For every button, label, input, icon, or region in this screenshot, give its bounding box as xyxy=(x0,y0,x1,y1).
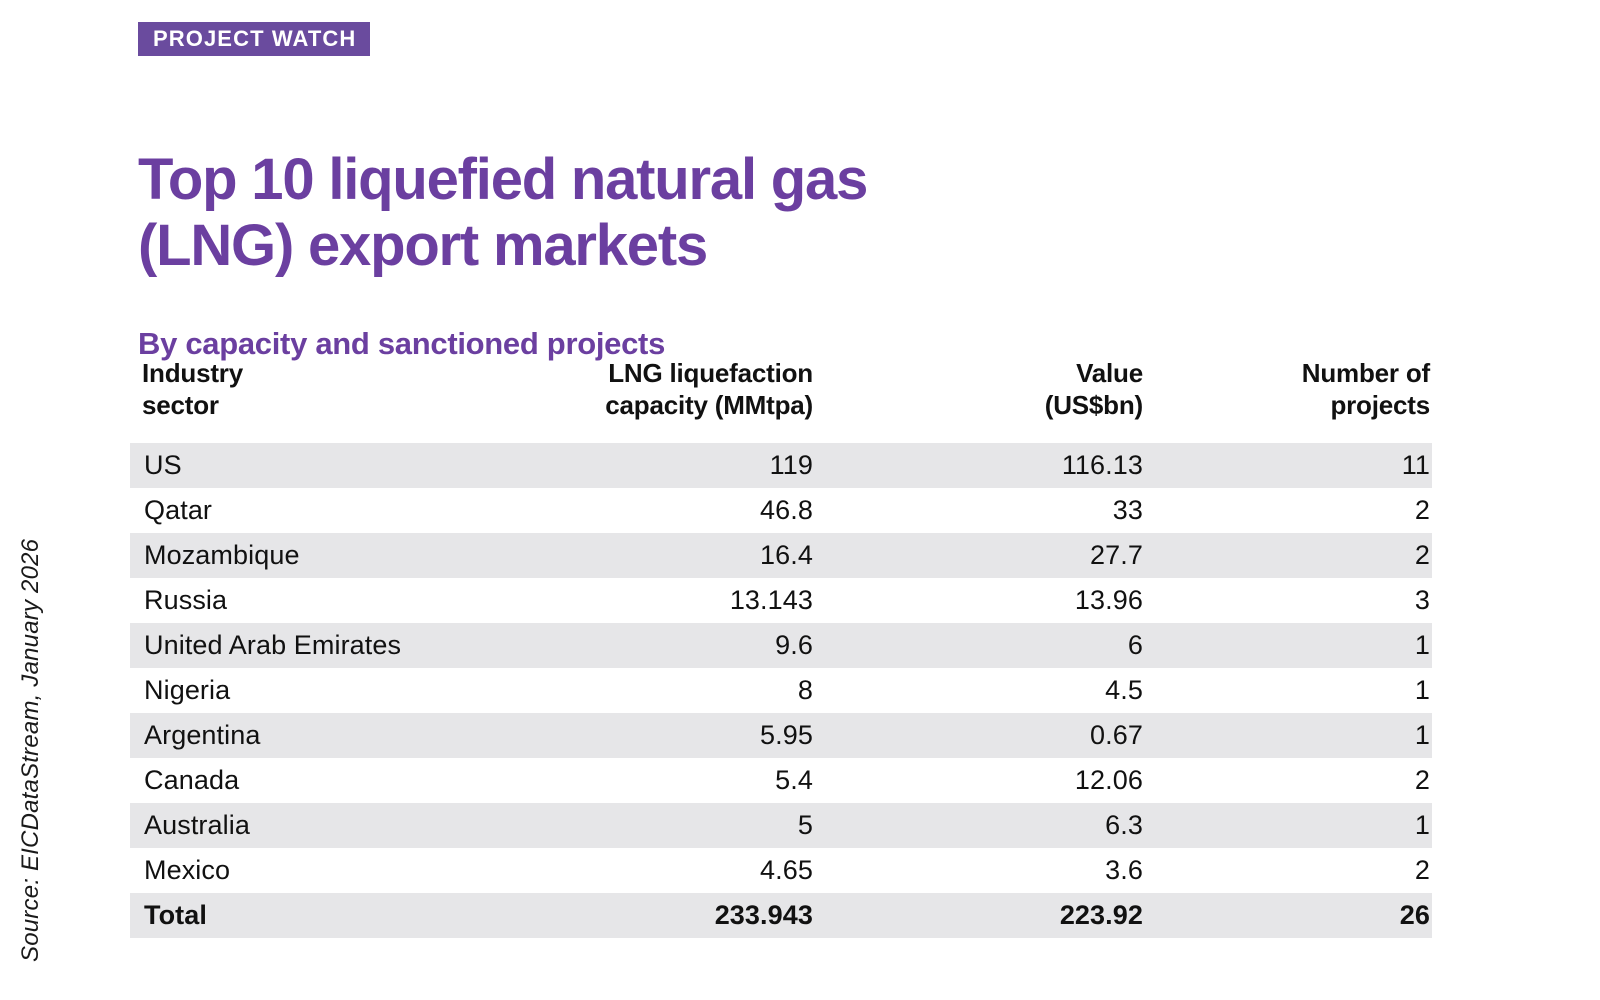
cell-capacity: 5 xyxy=(600,803,815,848)
cell-projects: 2 xyxy=(1145,758,1432,803)
table-row: Canada5.412.062 xyxy=(130,758,1432,803)
cell-capacity: 233.943 xyxy=(600,893,815,938)
cell-capacity: 5.4 xyxy=(600,758,815,803)
table-row: Nigeria84.51 xyxy=(130,668,1432,713)
page-title-line-1: Top 10 liquefied natural gas xyxy=(138,147,1138,213)
table-row: Australia56.31 xyxy=(130,803,1432,848)
page-subtitle: By capacity and sanctioned projects xyxy=(138,326,665,362)
cell-capacity: 4.65 xyxy=(600,848,815,893)
cell-capacity: 9.6 xyxy=(600,623,815,668)
column-header-value-line-2: (US$bn) xyxy=(815,390,1143,422)
cell-industry-sector: US xyxy=(130,443,600,488)
cell-capacity: 16.4 xyxy=(600,533,815,578)
cell-industry-sector: Argentina xyxy=(130,713,600,758)
cell-capacity: 13.143 xyxy=(600,578,815,623)
cell-industry-sector: Mozambique xyxy=(130,533,600,578)
cell-industry-sector: Russia xyxy=(130,578,600,623)
cell-projects: 26 xyxy=(1145,893,1432,938)
cell-projects: 1 xyxy=(1145,713,1432,758)
cell-projects: 1 xyxy=(1145,623,1432,668)
cell-industry-sector: Qatar xyxy=(130,488,600,533)
cell-value: 3.6 xyxy=(815,848,1145,893)
cell-value: 0.67 xyxy=(815,713,1145,758)
column-header-industry-sector: Industry sector xyxy=(130,358,600,443)
cell-capacity: 5.95 xyxy=(600,713,815,758)
column-header-capacity-line-2: capacity (MMtpa) xyxy=(600,390,813,422)
cell-projects: 2 xyxy=(1145,488,1432,533)
cell-value: 223.92 xyxy=(815,893,1145,938)
cell-value: 6.3 xyxy=(815,803,1145,848)
cell-capacity: 46.8 xyxy=(600,488,815,533)
column-header-projects: Number of projects xyxy=(1145,358,1432,443)
cell-projects: 1 xyxy=(1145,668,1432,713)
column-header-industry-sector-line-2: sector xyxy=(142,390,600,422)
table-body: US119116.1311Qatar46.8332Mozambique16.42… xyxy=(130,443,1432,938)
lng-export-markets-table: Industry sector LNG liquefaction capacit… xyxy=(130,358,1432,938)
cell-industry-sector: Australia xyxy=(130,803,600,848)
column-header-industry-sector-line-1: Industry xyxy=(142,358,600,390)
page-title: Top 10 liquefied natural gas (LNG) expor… xyxy=(138,147,1138,279)
column-header-capacity: LNG liquefaction capacity (MMtpa) xyxy=(600,358,815,443)
project-watch-badge-label: PROJECT WATCH xyxy=(153,28,356,50)
table-row: Argentina5.950.671 xyxy=(130,713,1432,758)
table-row: Mozambique16.427.72 xyxy=(130,533,1432,578)
cell-projects: 3 xyxy=(1145,578,1432,623)
column-header-projects-line-1: Number of xyxy=(1145,358,1430,390)
table-row-total: Total233.943223.9226 xyxy=(130,893,1432,938)
table-header: Industry sector LNG liquefaction capacit… xyxy=(130,358,1432,443)
table-row: United Arab Emirates9.661 xyxy=(130,623,1432,668)
cell-industry-sector: Mexico xyxy=(130,848,600,893)
cell-industry-sector: Canada xyxy=(130,758,600,803)
column-header-capacity-line-1: LNG liquefaction xyxy=(600,358,813,390)
cell-value: 13.96 xyxy=(815,578,1145,623)
cell-value: 6 xyxy=(815,623,1145,668)
cell-capacity: 119 xyxy=(600,443,815,488)
cell-industry-sector: Nigeria xyxy=(130,668,600,713)
cell-projects: 11 xyxy=(1145,443,1432,488)
source-note: Source: EICDataStream, January 2026 xyxy=(0,0,62,1000)
cell-industry-sector: Total xyxy=(130,893,600,938)
table-header-row: Industry sector LNG liquefaction capacit… xyxy=(130,358,1432,443)
cell-value: 27.7 xyxy=(815,533,1145,578)
cell-industry-sector: United Arab Emirates xyxy=(130,623,600,668)
cell-projects: 2 xyxy=(1145,848,1432,893)
cell-capacity: 8 xyxy=(600,668,815,713)
table-row: Russia13.14313.963 xyxy=(130,578,1432,623)
cell-projects: 1 xyxy=(1145,803,1432,848)
column-header-value: Value (US$bn) xyxy=(815,358,1145,443)
table-row: US119116.1311 xyxy=(130,443,1432,488)
cell-value: 4.5 xyxy=(815,668,1145,713)
column-header-projects-line-2: projects xyxy=(1145,390,1430,422)
project-watch-badge: PROJECT WATCH xyxy=(138,22,370,56)
table-row: Qatar46.8332 xyxy=(130,488,1432,533)
cell-projects: 2 xyxy=(1145,533,1432,578)
cell-value: 116.13 xyxy=(815,443,1145,488)
page-title-line-2: (LNG) export markets xyxy=(138,213,1138,279)
cell-value: 12.06 xyxy=(815,758,1145,803)
table-row: Mexico4.653.62 xyxy=(130,848,1432,893)
source-text: Source: EICDataStream, January 2026 xyxy=(17,539,45,1000)
column-header-value-line-1: Value xyxy=(815,358,1143,390)
cell-value: 33 xyxy=(815,488,1145,533)
